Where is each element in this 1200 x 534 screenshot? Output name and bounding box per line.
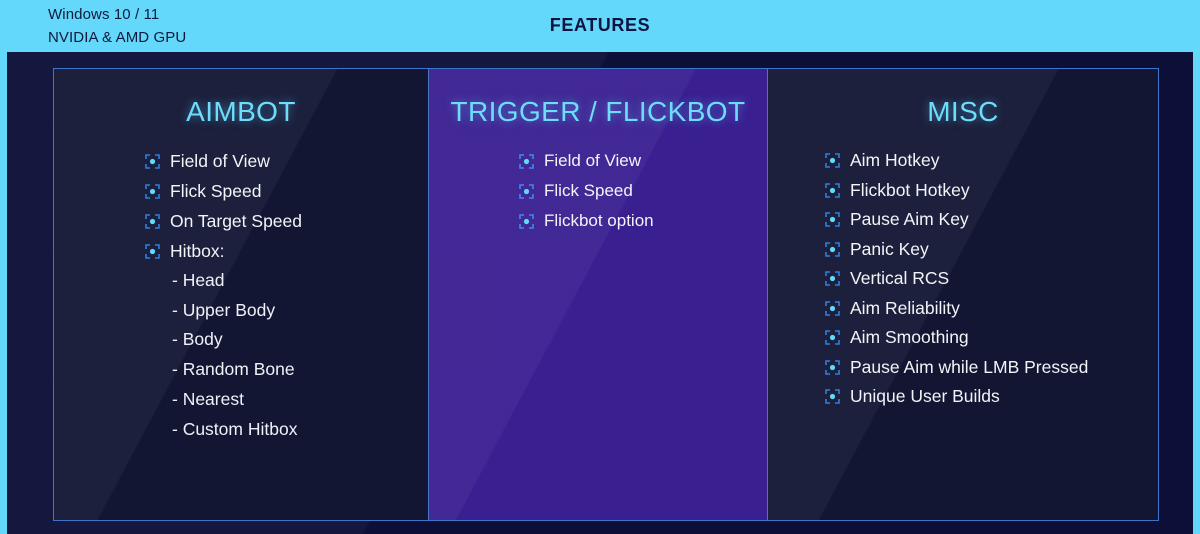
list-item-label: Vertical RCS — [850, 264, 949, 294]
column-title-trigger-flickbot: TRIGGER / FLICKBOT — [429, 96, 767, 128]
list-item-label: Flick Speed — [170, 176, 261, 206]
crosshair-bracket-icon — [825, 330, 840, 345]
crosshair-bracket-icon — [145, 244, 160, 259]
list-item-label: On Target Speed — [170, 206, 302, 236]
list-item: Flickbot Hotkey — [825, 176, 1158, 206]
feature-column-misc: MISC Aim Hotkey Flickbot H — [768, 69, 1158, 520]
list-item: Flick Speed — [519, 176, 767, 206]
list-item: Panic Key — [825, 235, 1158, 265]
list-item: Hitbox: — [145, 236, 428, 266]
feature-list-aimbot: Field of View Flick Speed — [54, 146, 428, 266]
list-item: Pause Aim while LMB Pressed — [825, 353, 1158, 383]
list-item-label: Panic Key — [850, 235, 929, 265]
list-item-label: Aim Smoothing — [850, 323, 969, 353]
crosshair-bracket-icon — [825, 212, 840, 227]
hitbox-sub-list: - Head - Upper Body - Body - Random Bone… — [54, 266, 428, 444]
feature-list-trigger-flickbot: Field of View Flick Speed — [429, 146, 767, 236]
column-title-aimbot: AIMBOT — [54, 96, 428, 128]
left-edge-accent-bar — [0, 0, 7, 534]
feature-column-aimbot: AIMBOT Field of View Flick — [54, 69, 428, 520]
crosshair-bracket-icon — [825, 301, 840, 316]
list-item-label: Field of View — [170, 146, 270, 176]
list-item-label: Aim Hotkey — [850, 146, 939, 176]
crosshair-bracket-icon — [145, 214, 160, 229]
list-item-label: Aim Reliability — [850, 294, 960, 324]
sub-list-item: - Upper Body — [145, 296, 428, 326]
sub-list-item: - Custom Hitbox — [145, 415, 428, 445]
crosshair-bracket-icon — [145, 154, 160, 169]
crosshair-bracket-icon — [825, 271, 840, 286]
right-edge-accent-bar — [1193, 0, 1200, 534]
list-item: Flick Speed — [145, 176, 428, 206]
crosshair-bracket-icon — [825, 360, 840, 375]
crosshair-bracket-icon — [519, 184, 534, 199]
crosshair-bracket-icon — [825, 242, 840, 257]
crosshair-bracket-icon — [825, 183, 840, 198]
list-item: Flickbot option — [519, 206, 767, 236]
list-item: Vertical RCS — [825, 264, 1158, 294]
list-item-label: Hitbox: — [170, 236, 224, 266]
list-item: Aim Hotkey — [825, 146, 1158, 176]
list-item-label: Field of View — [544, 146, 641, 176]
feature-column-trigger-flickbot: TRIGGER / FLICKBOT Field of View — [428, 69, 768, 520]
crosshair-bracket-icon — [145, 184, 160, 199]
list-item: Unique User Builds — [825, 382, 1158, 412]
list-item-label: Flick Speed — [544, 176, 633, 206]
feature-list-misc: Aim Hotkey Flickbot Hotkey — [768, 146, 1158, 412]
crosshair-bracket-icon — [825, 153, 840, 168]
page-title: FEATURES — [0, 15, 1200, 36]
list-item: Aim Reliability — [825, 294, 1158, 324]
crosshair-bracket-icon — [519, 214, 534, 229]
crosshair-bracket-icon — [825, 389, 840, 404]
list-item: Field of View — [145, 146, 428, 176]
list-item-label: Pause Aim while LMB Pressed — [850, 353, 1088, 383]
list-item-label: Pause Aim Key — [850, 205, 969, 235]
list-item-label: Flickbot option — [544, 206, 654, 236]
list-item: Field of View — [519, 146, 767, 176]
features-panel: AIMBOT Field of View Flick — [53, 68, 1159, 521]
list-item: Aim Smoothing — [825, 323, 1158, 353]
sub-list-item: - Nearest — [145, 385, 428, 415]
column-title-misc: MISC — [768, 96, 1158, 128]
list-item-label: Unique User Builds — [850, 382, 1000, 412]
header-band: Windows 10 / 11 NVIDIA & AMD GPU FEATURE… — [0, 0, 1200, 52]
sub-list-item: - Body — [145, 325, 428, 355]
list-item: Pause Aim Key — [825, 205, 1158, 235]
list-item-label: Flickbot Hotkey — [850, 176, 970, 206]
sub-list-item: - Random Bone — [145, 355, 428, 385]
sub-list-item: - Head — [145, 266, 428, 296]
list-item: On Target Speed — [145, 206, 428, 236]
crosshair-bracket-icon — [519, 154, 534, 169]
